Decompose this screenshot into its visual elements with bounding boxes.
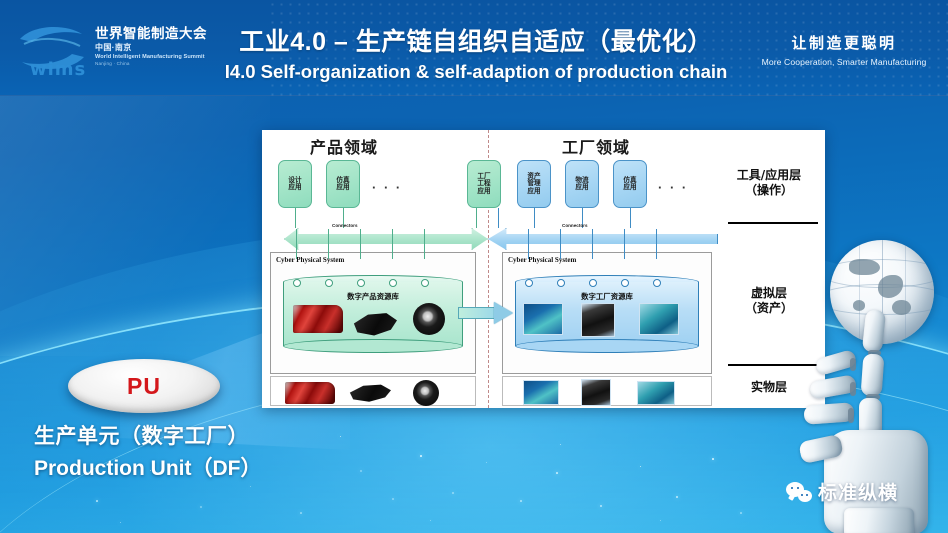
- stem-simulation-factory: [630, 208, 631, 228]
- robot-joint-middle: [850, 358, 856, 371]
- repo-factory-port-2: [557, 279, 565, 287]
- app-box-factory-engineering[interactable]: 工厂 工程 应用: [467, 160, 501, 208]
- cps-factory-label: Cyber Physical System: [508, 256, 576, 264]
- thumb-taillight-virtual: [293, 305, 343, 333]
- app-box-logistics[interactable]: 物流 应用: [565, 160, 599, 208]
- pu-caption-cn: 生产单元（数字工厂）: [34, 420, 334, 450]
- cps-product-link-2: [328, 229, 329, 259]
- repo-factory-port-5: [653, 279, 661, 287]
- wims-logo-icon: wims: [14, 22, 90, 74]
- bus-arrow-factory-domain: [488, 228, 718, 250]
- app-box-simulation-product[interactable]: 仿真 应用: [326, 160, 360, 208]
- product-apps-ellipsis: · · ·: [372, 180, 402, 195]
- repo-product-port-5: [421, 279, 429, 287]
- repo-product-label: 数字产品资源库: [283, 291, 463, 302]
- robot-finger-index-tip: [862, 309, 886, 353]
- slide-header: wims 世界智能制造大会 中国·南京 World Intelligent Ma…: [0, 0, 948, 96]
- robot-finger-little: [803, 402, 854, 424]
- cps-factory-link-4: [624, 229, 625, 259]
- layer-label-tool-application: 工具/应用层 （操作）: [714, 168, 824, 198]
- architecture-diagram: 产品领域 工厂领域 设计 应用 仿真 应用 · · · 工厂 工程 应用 资产 …: [262, 130, 825, 408]
- domain-title-factory: 工厂领域: [562, 134, 630, 158]
- wechat-icon: [786, 482, 812, 502]
- app-box-simulation-product-label: 仿真 应用: [336, 177, 349, 191]
- repo-product-port-2: [325, 279, 333, 287]
- repo-factory-port-3: [589, 279, 597, 287]
- transfer-arrow-shaft: [458, 307, 496, 319]
- repo-product-port-3: [357, 279, 365, 287]
- cps-product-label: Cyber Physical System: [276, 256, 344, 264]
- cps-factory: Cyber Physical System 数字工厂资源库: [502, 252, 712, 374]
- repo-factory-cylinder-bottom: [515, 339, 699, 353]
- physical-machine: [523, 380, 559, 405]
- connectors-label-right: Connectors: [562, 223, 588, 228]
- stem-factory-engineering-left: [476, 208, 477, 228]
- background-left-panel-glow: [0, 96, 270, 356]
- app-box-asset-management-label: 资产 管理 应用: [527, 173, 540, 194]
- physical-pump: [637, 381, 675, 405]
- repo-factory-port-4: [621, 279, 629, 287]
- robot-wrist: [844, 508, 914, 533]
- bus-arrow-product-domain: [284, 228, 488, 250]
- layer-label-tool-application-cn: 工具/应用层: [714, 168, 824, 183]
- physical-row-factory: [502, 376, 712, 406]
- layer-label-tool-application-sub: （操作）: [714, 183, 824, 198]
- slide-canvas: wims 世界智能制造大会 中国·南京 World Intelligent Ma…: [0, 0, 948, 533]
- cps-factory-link-3: [592, 229, 593, 259]
- pu-badge-label: PU: [127, 373, 161, 400]
- thumb-machine-virtual: [523, 303, 563, 335]
- cps-product-link-1: [296, 229, 297, 259]
- wechat-watermark: 标准纵横: [786, 478, 898, 505]
- slide-title-block: 工业4.0 – 生产链自组织自适应（最优化） I4.0 Self-organiz…: [186, 22, 766, 83]
- cps-product-link-3: [360, 229, 361, 259]
- physical-cabinet: [581, 379, 611, 406]
- app-box-design[interactable]: 设计 应用: [278, 160, 312, 208]
- physical-tire: [413, 380, 439, 406]
- physical-taillight: [285, 382, 335, 404]
- repo-product-cylinder-bottom: [283, 339, 463, 353]
- wechat-icon-bubble-small: [798, 490, 812, 502]
- stem-factory-engineering-right: [498, 208, 499, 228]
- layer-rule-1: [728, 222, 818, 224]
- wechat-account-name: 标准纵横: [818, 478, 898, 505]
- globe-landmass-1: [849, 259, 880, 276]
- repo-factory-label: 数字工厂资源库: [515, 291, 699, 302]
- slogan-cn: 让制造更聪明: [750, 32, 938, 53]
- robot-joint-little: [848, 408, 854, 423]
- repo-factory-port-1: [525, 279, 533, 287]
- connectors-label-left: Connectors: [332, 223, 358, 228]
- pu-caption: 生产单元（数字工厂） Production Unit（DF）: [34, 420, 334, 482]
- slogan-en: More Cooperation, Smarter Manufacturing: [750, 57, 938, 67]
- wims-wordmark: wims: [30, 59, 86, 80]
- transfer-arrow-product-to-factory: [458, 302, 514, 324]
- transfer-arrow-head: [494, 302, 513, 324]
- thumb-cabinet-virtual: [581, 303, 615, 337]
- thumb-pump-virtual: [639, 303, 679, 335]
- robot-finger-index-mid: [861, 353, 885, 396]
- cps-product-link-5: [424, 229, 425, 259]
- globe-landmass-4: [853, 300, 865, 310]
- app-box-factory-engineering-label: 工厂 工程 应用: [477, 173, 490, 194]
- physical-fender: [349, 383, 391, 403]
- app-box-simulation-factory[interactable]: 仿真 应用: [613, 160, 647, 208]
- repo-product-port-4: [389, 279, 397, 287]
- cps-factory-link-2: [560, 229, 561, 259]
- app-box-asset-management[interactable]: 资产 管理 应用: [517, 160, 551, 208]
- cps-product: Cyber Physical System 数字产品资源库: [270, 252, 476, 374]
- slogan-block: 让制造更聪明 More Cooperation, Smarter Manufac…: [750, 32, 938, 67]
- domain-title-product: 产品领域: [310, 134, 378, 158]
- stem-asset-management: [534, 208, 535, 228]
- robot-joint-ring: [850, 382, 856, 396]
- pu-caption-en: Production Unit（DF）: [34, 452, 334, 482]
- layer-rule-2: [728, 364, 818, 366]
- slide-title-cn: 工业4.0 – 生产链自组织自适应（最优化）: [186, 22, 766, 58]
- pu-badge[interactable]: PU: [68, 359, 220, 413]
- repo-product-port-1: [293, 279, 301, 287]
- factory-apps-ellipsis: · · ·: [658, 180, 688, 195]
- cps-factory-link-1: [528, 229, 529, 259]
- cps-product-link-4: [392, 229, 393, 259]
- physical-row-product: [270, 376, 476, 406]
- cps-factory-link-5: [656, 229, 657, 259]
- thumb-tire-virtual: [413, 303, 445, 335]
- stem-design: [295, 208, 296, 228]
- app-box-simulation-factory-label: 仿真 应用: [623, 177, 636, 191]
- slide-title-en: I4.0 Self-organization & self-adaption o…: [186, 61, 766, 83]
- app-box-logistics-label: 物流 应用: [575, 177, 588, 191]
- app-box-design-label: 设计 应用: [288, 177, 301, 191]
